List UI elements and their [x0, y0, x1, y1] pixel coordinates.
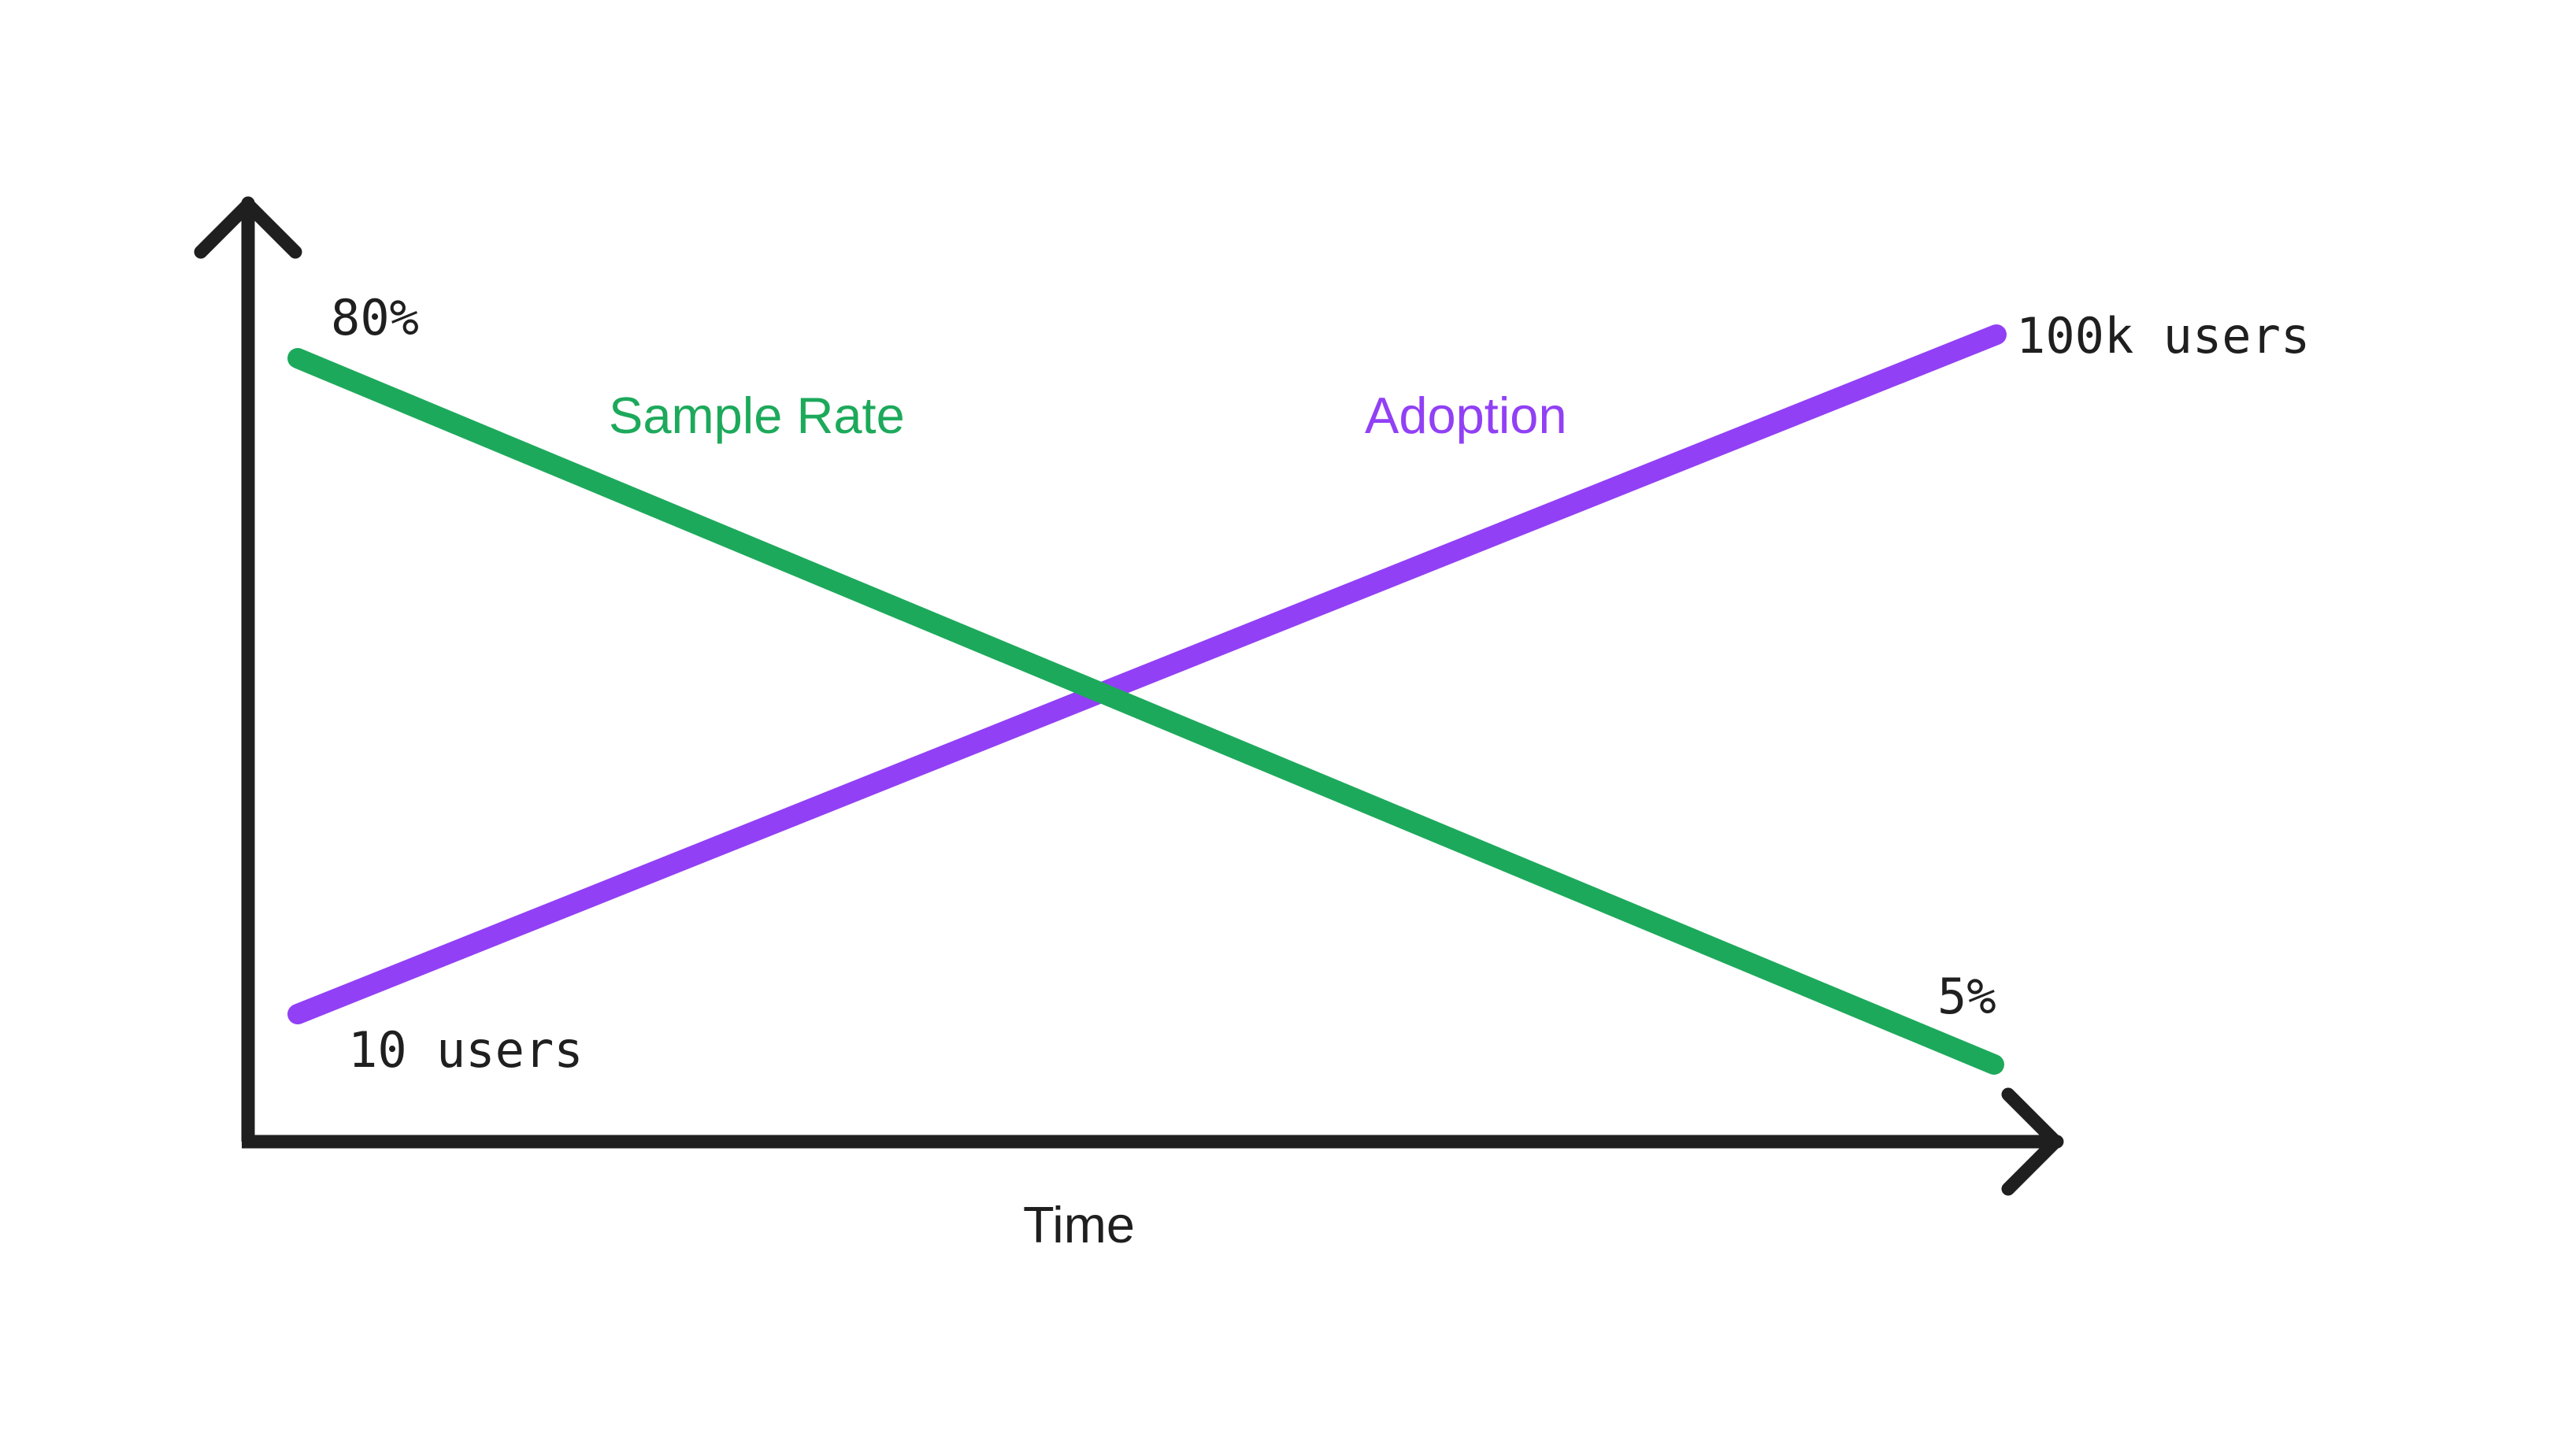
sample-rate-end-label: 5% [1937, 968, 1996, 1025]
series-lines-group [298, 335, 1996, 1064]
chart-svg: 80% 100k users 10 users 5% Sample Rate A… [0, 0, 2576, 1444]
adoption-end-label: 100k users [2016, 307, 2310, 365]
adoption-line [298, 335, 1996, 1014]
sample-rate-start-label: 80% [331, 289, 419, 346]
x-axis-label: Time [1023, 1196, 1135, 1253]
sample-rate-series-label: Sample Rate [609, 387, 905, 444]
chart-container: 80% 100k users 10 users 5% Sample Rate A… [0, 0, 2576, 1444]
adoption-series-label: Adoption [1365, 387, 1567, 444]
adoption-start-label: 10 users [348, 1021, 584, 1079]
sample-rate-line [298, 358, 1994, 1064]
